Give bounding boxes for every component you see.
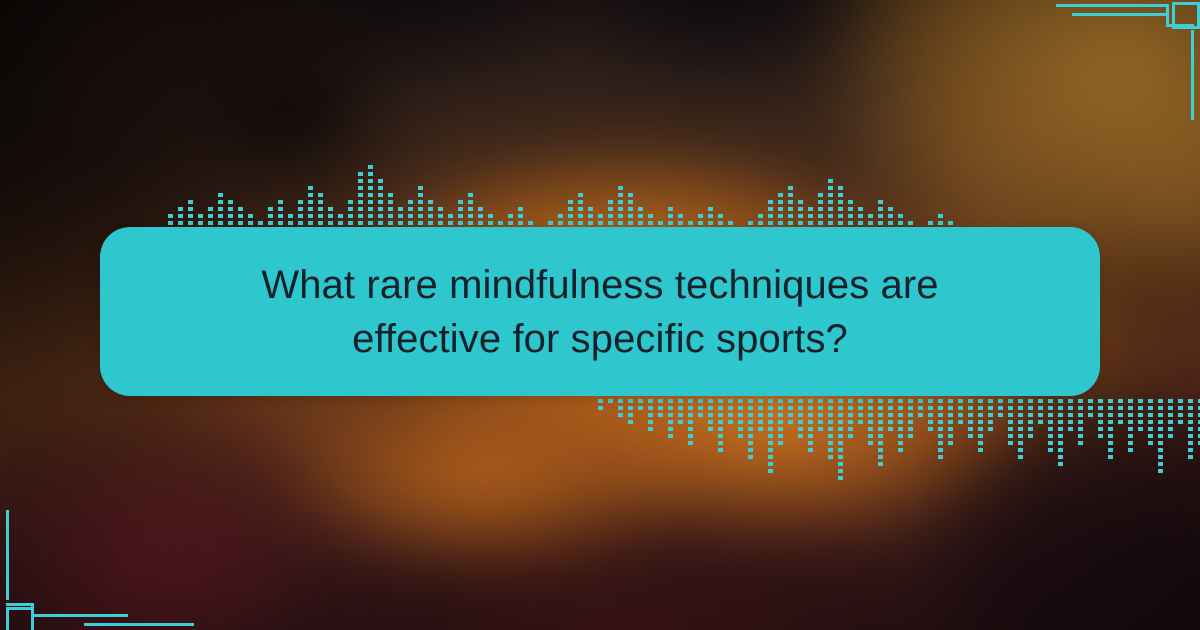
waveform-dot	[748, 441, 753, 445]
waveform-dot	[658, 221, 663, 225]
waveform-dot	[898, 434, 903, 438]
waveform-bar	[1168, 396, 1173, 438]
waveform-bar	[608, 396, 613, 403]
waveform-dot	[228, 207, 233, 211]
waveform-dot	[848, 413, 853, 417]
waveform-dot	[938, 441, 943, 445]
waveform-dot	[838, 200, 843, 204]
waveform-dot	[1048, 448, 1053, 452]
waveform-dot	[1078, 441, 1083, 445]
waveform-dot	[708, 214, 713, 218]
waveform-dot	[798, 214, 803, 218]
waveform-dot	[1018, 427, 1023, 431]
waveform-dot	[558, 214, 563, 218]
waveform-dot	[1028, 427, 1033, 431]
waveform-dot	[688, 441, 693, 445]
waveform-bar	[858, 396, 863, 424]
waveform-dot	[308, 200, 313, 204]
waveform-bar	[1038, 396, 1043, 424]
waveform-dot	[768, 441, 773, 445]
waveform-dot	[468, 214, 473, 218]
waveform-dot	[1188, 441, 1193, 445]
waveform-dot	[838, 207, 843, 211]
waveform-dot	[1188, 420, 1193, 424]
waveform-dot	[298, 207, 303, 211]
waveform-dot	[1108, 434, 1113, 438]
waveform-dot	[1058, 448, 1063, 452]
waveform-dot	[618, 406, 623, 410]
waveform-dot	[388, 200, 393, 204]
waveform-dot	[1138, 399, 1143, 403]
waveform-dot	[908, 420, 913, 424]
waveform-dot	[898, 420, 903, 424]
waveform-dot	[458, 221, 463, 225]
waveform-dot	[248, 221, 253, 225]
waveform-dot	[828, 455, 833, 459]
waveform-dot	[1098, 420, 1103, 424]
waveform-dot	[898, 214, 903, 218]
waveform-dot	[878, 221, 883, 225]
waveform-dot	[818, 413, 823, 417]
waveform-dot	[948, 434, 953, 438]
waveform-dot	[1078, 399, 1083, 403]
waveform-bar	[798, 396, 803, 438]
waveform-dot	[1188, 455, 1193, 459]
waveform-dot	[958, 413, 963, 417]
waveform-dot	[788, 193, 793, 197]
waveform-dot	[758, 214, 763, 218]
waveform-bar	[1078, 396, 1083, 445]
waveform-dot	[678, 420, 683, 424]
corner-line-vertical-long	[1191, 30, 1194, 120]
waveform-dot	[218, 200, 223, 204]
waveform-dot	[718, 413, 723, 417]
waveform-dot	[938, 455, 943, 459]
waveform-bar	[688, 396, 693, 445]
waveform-dot	[768, 434, 773, 438]
waveform-dot	[368, 207, 373, 211]
waveform-dot	[1028, 413, 1033, 417]
waveform-dot	[928, 399, 933, 403]
waveform-bar	[368, 165, 373, 235]
waveform-dot	[178, 207, 183, 211]
waveform-dot	[198, 214, 203, 218]
waveform-dot	[468, 221, 473, 225]
waveform-dot	[648, 420, 653, 424]
waveform-dot	[408, 214, 413, 218]
waveform-dot	[748, 420, 753, 424]
waveform-dot	[838, 469, 843, 473]
waveform-dot	[758, 427, 763, 431]
waveform-bar	[728, 396, 733, 424]
waveform-dot	[308, 214, 313, 218]
waveform-dot	[408, 207, 413, 211]
waveform-dot	[578, 200, 583, 204]
waveform-dot	[228, 221, 233, 225]
waveform-dot	[868, 420, 873, 424]
waveform-dot	[188, 221, 193, 225]
waveform-dot	[768, 214, 773, 218]
waveform-dot	[1008, 399, 1013, 403]
waveform-dot	[788, 221, 793, 225]
waveform-dot	[798, 221, 803, 225]
waveform-bar	[1188, 396, 1193, 459]
waveform-dot	[768, 455, 773, 459]
waveform-dot	[938, 221, 943, 225]
waveform-dot	[768, 469, 773, 473]
waveform-bar	[968, 396, 973, 438]
waveform-bar	[928, 396, 933, 431]
waveform-dot	[718, 448, 723, 452]
waveform-dot	[418, 214, 423, 218]
waveform-dot	[938, 214, 943, 218]
waveform-dot	[1148, 420, 1153, 424]
waveform-dot	[768, 399, 773, 403]
waveform-dot	[468, 207, 473, 211]
waveform-dot	[228, 200, 233, 204]
waveform-dot	[708, 420, 713, 424]
waveform-dot	[618, 413, 623, 417]
waveform-dot	[1058, 441, 1063, 445]
waveform-dot	[1138, 420, 1143, 424]
waveform-dot	[808, 420, 813, 424]
waveform-dot	[758, 420, 763, 424]
waveform-dot	[568, 214, 573, 218]
waveform-dot	[728, 420, 733, 424]
corner-square-icon	[6, 607, 34, 630]
waveform-dot	[868, 434, 873, 438]
waveform-dot	[1028, 420, 1033, 424]
waveform-dot	[318, 221, 323, 225]
waveform-dot	[818, 420, 823, 424]
waveform-dot	[808, 413, 813, 417]
waveform-dot	[1158, 448, 1163, 452]
waveform-dot	[608, 214, 613, 218]
waveform-dot	[898, 427, 903, 431]
waveform-dot	[798, 207, 803, 211]
waveform-dot	[868, 221, 873, 225]
waveform-dot	[478, 207, 483, 211]
waveform-dot	[368, 172, 373, 176]
waveform-dot	[1108, 427, 1113, 431]
waveform-dot	[788, 420, 793, 424]
waveform-dot	[1188, 399, 1193, 403]
waveform-dot	[618, 207, 623, 211]
waveform-dot	[738, 420, 743, 424]
waveform-dot	[628, 200, 633, 204]
waveform-dot	[1008, 406, 1013, 410]
waveform-dot	[1178, 413, 1183, 417]
waveform-dot	[1038, 399, 1043, 403]
waveform-dot	[928, 413, 933, 417]
waveform-dot	[198, 221, 203, 225]
waveform-dot	[688, 399, 693, 403]
waveform-dot	[1128, 441, 1133, 445]
waveform-dot	[418, 221, 423, 225]
waveform-dot	[838, 476, 843, 480]
waveform-dot	[708, 399, 713, 403]
waveform-dot	[188, 214, 193, 218]
waveform-dot	[688, 434, 693, 438]
waveform-dot	[638, 399, 643, 403]
waveform-dot	[988, 399, 993, 403]
waveform-bar	[1108, 396, 1113, 459]
waveform-dot	[378, 214, 383, 218]
waveform-bar	[1118, 396, 1123, 424]
waveform-dot	[738, 413, 743, 417]
waveform-dot	[1088, 399, 1093, 403]
waveform-dot	[1008, 413, 1013, 417]
waveform-dot	[1108, 448, 1113, 452]
waveform-dot	[718, 399, 723, 403]
waveform-dot	[978, 413, 983, 417]
waveform-dot	[1018, 434, 1023, 438]
waveform-dot	[788, 207, 793, 211]
waveform-dot	[938, 420, 943, 424]
waveform-dot	[288, 214, 293, 218]
waveform-dot	[378, 200, 383, 204]
waveform-dot	[278, 214, 283, 218]
waveform-dot	[978, 399, 983, 403]
waveform-dot	[358, 200, 363, 204]
waveform-dot	[1048, 406, 1053, 410]
waveform-dot	[618, 214, 623, 218]
waveform-dot	[688, 420, 693, 424]
waveform-dot	[1168, 434, 1173, 438]
waveform-dot	[828, 214, 833, 218]
waveform-dot	[1058, 413, 1063, 417]
waveform-dot	[658, 399, 663, 403]
waveform-dot	[828, 448, 833, 452]
waveform-dot	[898, 406, 903, 410]
waveform-dot	[258, 221, 263, 225]
waveform-bar	[818, 396, 823, 431]
waveform-dot	[1018, 399, 1023, 403]
waveform-dot	[758, 221, 763, 225]
waveform-dot	[428, 207, 433, 211]
waveform-dot	[678, 221, 683, 225]
waveform-dot	[828, 413, 833, 417]
waveform-dot	[928, 420, 933, 424]
waveform-dot	[838, 427, 843, 431]
waveform-dot	[828, 406, 833, 410]
waveform-dot	[438, 207, 443, 211]
waveform-dot	[838, 434, 843, 438]
waveform-dot	[628, 399, 633, 403]
waveform-dot	[648, 221, 653, 225]
waveform-dot	[898, 448, 903, 452]
waveform-dot	[668, 427, 673, 431]
waveform-dot	[968, 434, 973, 438]
waveform-dot	[348, 214, 353, 218]
waveform-dot	[918, 406, 923, 410]
waveform-dot	[678, 399, 683, 403]
waveform-bar	[868, 396, 873, 445]
waveform-dot	[588, 221, 593, 225]
waveform-dot	[1068, 406, 1073, 410]
waveform-bar	[738, 396, 743, 438]
waveform-dot	[848, 214, 853, 218]
waveform-dot	[948, 413, 953, 417]
waveform-dot	[1048, 420, 1053, 424]
waveform-dot	[1018, 406, 1023, 410]
waveform-dot	[338, 214, 343, 218]
waveform-dot	[1188, 406, 1193, 410]
waveform-dot	[668, 207, 673, 211]
waveform-dot	[1158, 413, 1163, 417]
waveform-dot	[708, 221, 713, 225]
waveform-bar	[718, 396, 723, 452]
waveform-dot	[1108, 399, 1113, 403]
waveform-dot	[778, 214, 783, 218]
waveform-dot	[328, 221, 333, 225]
waveform-dot	[938, 406, 943, 410]
waveform-dot	[748, 448, 753, 452]
waveform-dot	[858, 413, 863, 417]
waveform-dot	[178, 221, 183, 225]
waveform-dot	[628, 221, 633, 225]
waveform-dot	[288, 221, 293, 225]
waveform-dot	[518, 207, 523, 211]
waveform-dot	[318, 200, 323, 204]
waveform-dot	[978, 420, 983, 424]
waveform-dot	[958, 399, 963, 403]
waveform-dot	[1078, 434, 1083, 438]
waveform-bar	[788, 396, 793, 424]
waveform-dot	[648, 406, 653, 410]
waveform-dot	[378, 207, 383, 211]
waveform-dot	[628, 193, 633, 197]
waveform-bar	[1128, 396, 1133, 452]
waveform-dot	[188, 200, 193, 204]
waveform-dot	[1118, 413, 1123, 417]
waveform-dot	[828, 207, 833, 211]
waveform-dot	[878, 434, 883, 438]
waveform-dot	[518, 221, 523, 225]
waveform-dot	[738, 406, 743, 410]
waveform-dot	[1058, 427, 1063, 431]
waveform-dot	[888, 406, 893, 410]
waveform-dot	[808, 448, 813, 452]
waveform-dot	[838, 420, 843, 424]
waveform-dot	[868, 427, 873, 431]
waveform-dot	[798, 420, 803, 424]
waveform-dot	[1018, 413, 1023, 417]
waveform-dot	[1108, 455, 1113, 459]
waveform-dot	[358, 221, 363, 225]
waveform-bar	[978, 396, 983, 452]
waveform-dot	[858, 406, 863, 410]
waveform-dot	[778, 427, 783, 431]
waveform-dot	[1118, 399, 1123, 403]
waveform-dot	[968, 413, 973, 417]
waveform-dot	[828, 427, 833, 431]
waveform-dot	[768, 200, 773, 204]
waveform-dot	[308, 221, 313, 225]
waveform-dot	[478, 214, 483, 218]
waveform-dot	[448, 214, 453, 218]
waveform-dot	[628, 214, 633, 218]
waveform-dot	[828, 186, 833, 190]
waveform-dot	[508, 214, 513, 218]
waveform-dot	[478, 221, 483, 225]
waveform-dot	[898, 399, 903, 403]
waveform-dot	[168, 221, 173, 225]
corner-line-horizontal-inner	[1072, 13, 1166, 16]
waveform-dot	[808, 221, 813, 225]
waveform-dot	[628, 406, 633, 410]
waveform-dot	[1128, 399, 1133, 403]
waveform-bar	[628, 396, 633, 424]
waveform-dot	[608, 207, 613, 211]
waveform-bar	[648, 396, 653, 431]
corner-line-horizontal-outer	[1056, 4, 1166, 7]
waveform-dot	[898, 221, 903, 225]
waveform-dot	[888, 207, 893, 211]
waveform-dot	[618, 193, 623, 197]
waveform-bar	[358, 172, 363, 235]
waveform-dot	[998, 406, 1003, 410]
waveform-dot	[1078, 406, 1083, 410]
waveform-bar	[988, 396, 993, 431]
waveform-dot	[978, 406, 983, 410]
waveform-dot	[1008, 441, 1013, 445]
waveform-dot	[1138, 406, 1143, 410]
waveform-dot	[588, 207, 593, 211]
waveform-dot	[548, 221, 553, 225]
waveform-dot	[308, 186, 313, 190]
waveform-dot	[878, 207, 883, 211]
waveform-dot	[768, 406, 773, 410]
waveform-dot	[388, 214, 393, 218]
waveform-dot	[838, 462, 843, 466]
waveform-dot	[1158, 427, 1163, 431]
waveform-dot	[338, 221, 343, 225]
waveform-dot	[418, 207, 423, 211]
waveform-bar	[808, 396, 813, 452]
corner-decoration-top-right	[1050, 0, 1200, 120]
waveform-bar	[918, 396, 923, 417]
waveform-dot	[938, 434, 943, 438]
waveform-dot	[348, 200, 353, 204]
waveform-dot	[988, 406, 993, 410]
waveform-dot	[778, 434, 783, 438]
waveform-dot	[628, 420, 633, 424]
waveform-dot	[448, 221, 453, 225]
waveform-dot	[1158, 406, 1163, 410]
waveform-dot	[1168, 420, 1173, 424]
waveform-dot	[578, 207, 583, 211]
waveform-dot	[628, 413, 633, 417]
waveform-dot	[1158, 462, 1163, 466]
waveform-dot	[368, 186, 373, 190]
waveform-dot	[358, 193, 363, 197]
waveform-dot	[758, 406, 763, 410]
waveform-dot	[848, 221, 853, 225]
waveform-bar	[1008, 396, 1013, 445]
waveform-dot	[1188, 448, 1193, 452]
waveform-dot	[988, 427, 993, 431]
waveform-dot	[668, 413, 673, 417]
waveform-dot	[878, 455, 883, 459]
waveform-dot	[408, 221, 413, 225]
waveform-dot	[838, 186, 843, 190]
waveform-dot	[238, 207, 243, 211]
waveform-dot	[1058, 455, 1063, 459]
waveform-top	[168, 145, 968, 235]
waveform-bar	[1048, 396, 1053, 452]
waveform-dot	[878, 413, 883, 417]
